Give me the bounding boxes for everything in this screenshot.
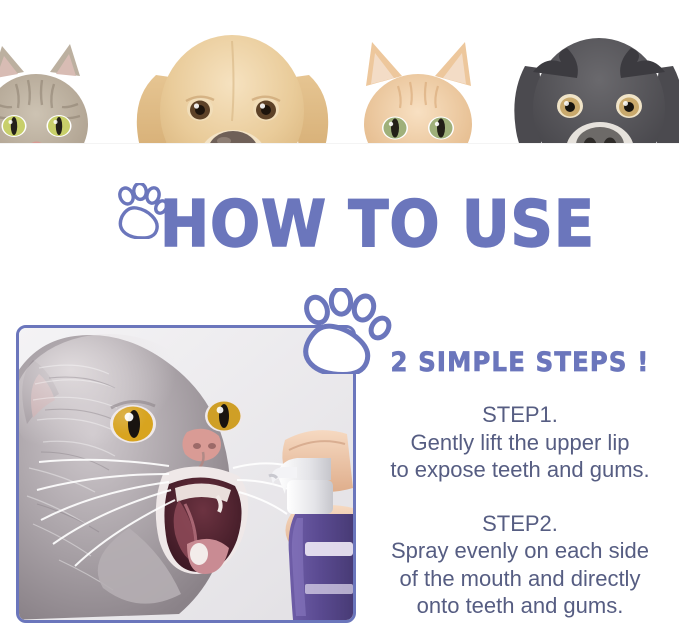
step-2-line-1: Spray evenly on each side — [364, 537, 676, 565]
step-1: STEP1. Gently lift the upper lip to expo… — [364, 401, 676, 484]
white-ledge — [0, 143, 679, 182]
step-1-line-2: to expose teeth and gums. — [364, 456, 676, 484]
step-1-title: STEP1. — [364, 401, 676, 429]
step-2-line-3: onto teeth and gums. — [364, 592, 676, 620]
infographic-page: HOW TO USE — [0, 0, 679, 632]
step-2-title: STEP2. — [364, 510, 676, 538]
steps-panel: 2 SIMPLE STEPS ! STEP1. Gently lift the … — [364, 348, 676, 620]
paw-print-icon — [113, 183, 167, 239]
step-1-line-1: Gently lift the upper lip — [364, 429, 676, 457]
paw-print-icon — [296, 288, 392, 374]
steps-heading: 2 SIMPLE STEPS ! — [364, 348, 676, 378]
pets-peeking-banner — [0, 0, 679, 182]
step-2: STEP2. Spray evenly on each side of the … — [364, 510, 676, 620]
step-2-line-2: of the mouth and directly — [364, 565, 676, 593]
page-title: HOW TO USE — [160, 193, 548, 257]
